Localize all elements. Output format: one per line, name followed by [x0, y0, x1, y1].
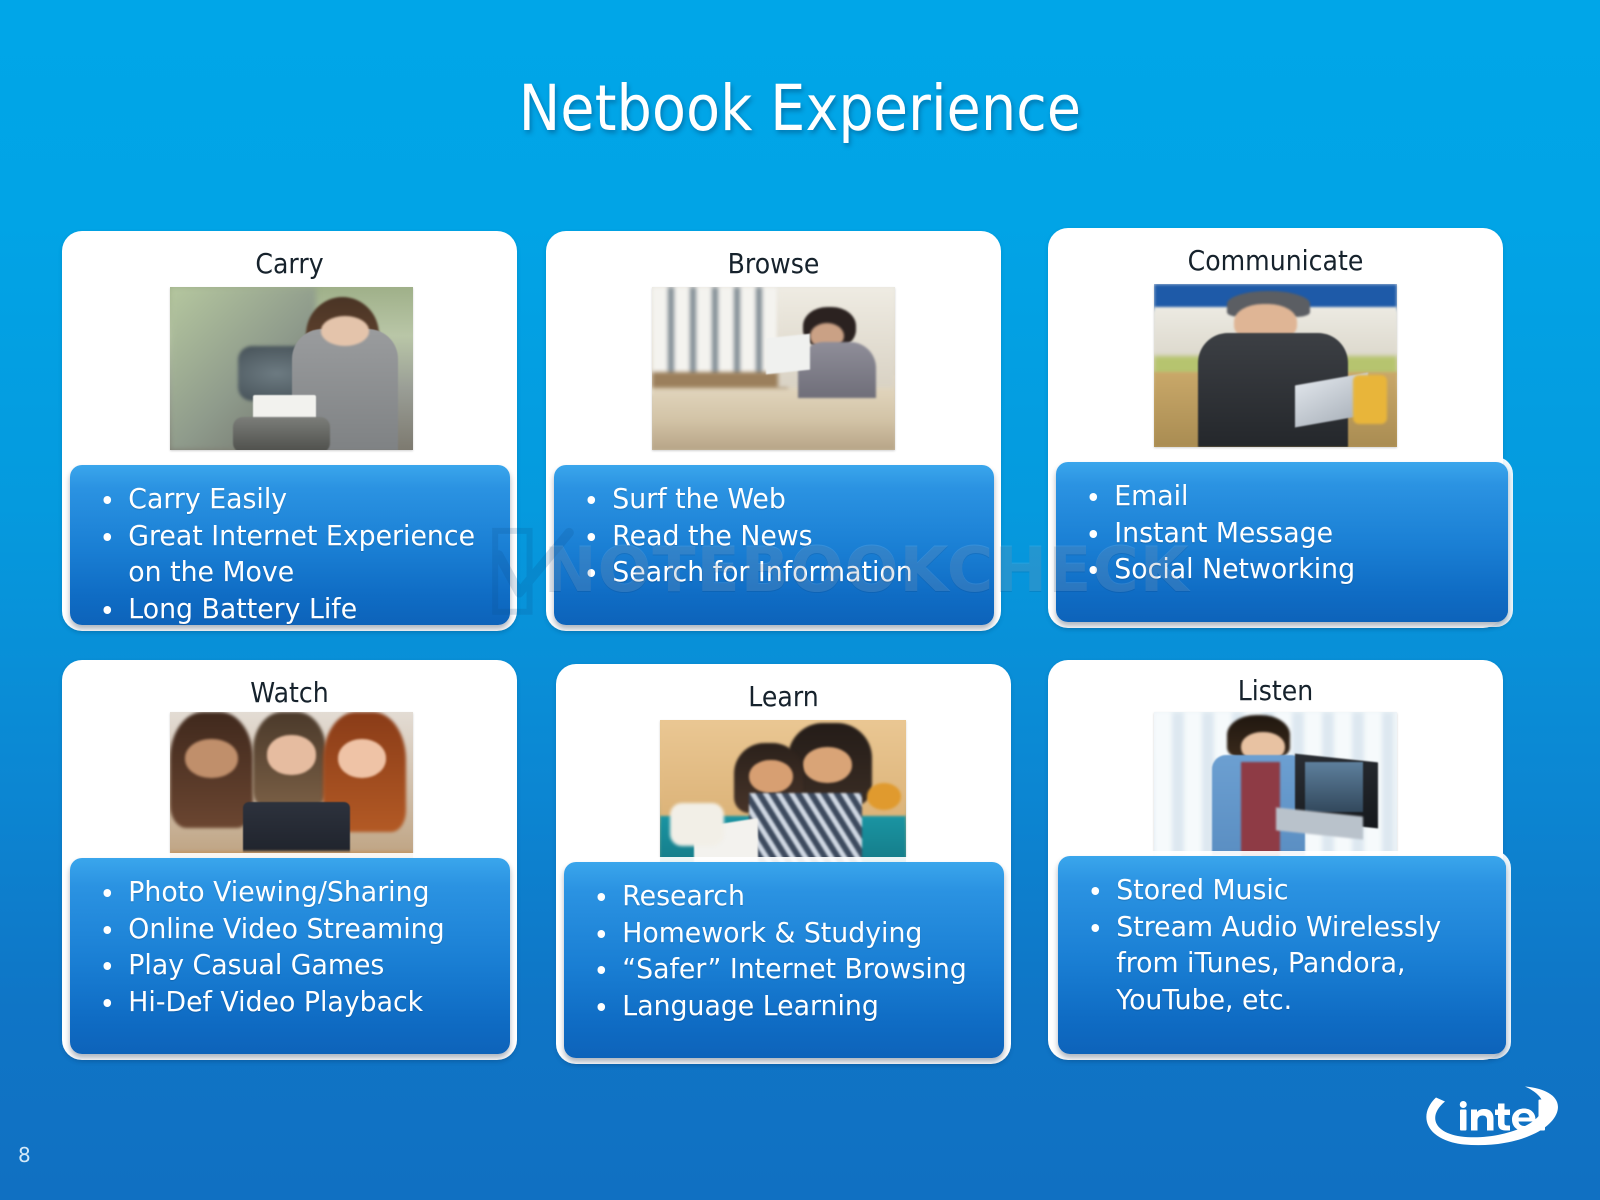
intel-logo: R	[1418, 1075, 1568, 1159]
card-title: Browse	[569, 247, 979, 280]
card-title: Watch	[85, 676, 495, 709]
bullet-item: “Safer” Internet Browsing	[586, 951, 976, 988]
bullet-item: Great Internet Experience on the Move	[92, 518, 482, 591]
feature-card-listen[interactable]: Listen Stored Music Stream Audio Wireles…	[1048, 660, 1503, 1060]
bullet-item: Carry Easily	[92, 481, 482, 518]
card-title: Learn	[579, 680, 989, 713]
card-title: Listen	[1071, 674, 1481, 707]
bullet-item: Instant Message	[1078, 515, 1479, 552]
feature-card-learn[interactable]: Learn Research Homework & Studying “Safe…	[556, 664, 1011, 1064]
feature-card-watch[interactable]: Watch Photo Viewing/Sharing Online Video…	[62, 660, 517, 1060]
card-photo	[170, 287, 413, 450]
bullet-item: Read the News	[576, 518, 966, 555]
bullet-list: Photo Viewing/Sharing Online Video Strea…	[92, 874, 500, 1020]
bullet-item: Email	[1078, 478, 1479, 515]
bullet-item: Language Learning	[586, 988, 976, 1025]
bullet-item: Hi-Def Video Playback	[92, 984, 482, 1021]
bullet-list: Carry Easily Great Internet Experience o…	[92, 481, 500, 627]
bullet-list: Stored Music Stream Audio Wirelessly fro…	[1080, 872, 1496, 1018]
bullet-item: Homework & Studying	[586, 915, 976, 952]
bullet-item: Play Casual Games	[92, 947, 482, 984]
feature-card-carry[interactable]: Carry Carry Easily Great Internet Experi…	[62, 231, 517, 631]
intel-logo-icon: R	[1418, 1075, 1568, 1159]
card-bullet-box: Photo Viewing/Sharing Online Video Strea…	[70, 858, 510, 1054]
feature-card-communicate[interactable]: Communicate Email Instant Message Social…	[1048, 228, 1503, 628]
card-photo	[170, 712, 413, 878]
bullet-list: Email Instant Message Social Networking	[1078, 478, 1498, 588]
svg-text:R: R	[1550, 1105, 1553, 1111]
bullet-item: Search for Information	[576, 554, 966, 591]
feature-card-grid: Carry Carry Easily Great Internet Experi…	[0, 0, 1600, 1200]
bullet-list: Research Homework & Studying “Safer” Int…	[586, 878, 994, 1024]
card-photo	[652, 287, 895, 450]
card-photo	[1154, 284, 1397, 447]
bullet-item: Long Battery Life	[92, 591, 482, 628]
bullet-item: Photo Viewing/Sharing	[92, 874, 482, 911]
card-title: Carry	[85, 247, 495, 280]
card-bullet-box: Carry Easily Great Internet Experience o…	[70, 465, 510, 625]
card-bullet-box: Research Homework & Studying “Safer” Int…	[564, 862, 1004, 1058]
bullet-item: Social Networking	[1078, 551, 1479, 588]
card-bullet-box: Surf the Web Read the News Search for In…	[554, 465, 994, 625]
bullet-list: Surf the Web Read the News Search for In…	[576, 481, 984, 591]
bullet-item: Stream Audio Wirelessly from iTunes, Pan…	[1080, 909, 1477, 1019]
feature-card-browse[interactable]: Browse Surf the Web Read the News Search…	[546, 231, 1001, 631]
card-photo	[1154, 712, 1397, 878]
card-bullet-box: Stored Music Stream Audio Wirelessly fro…	[1058, 856, 1506, 1054]
bullet-item: Online Video Streaming	[92, 911, 482, 948]
page-number: 8	[18, 1143, 31, 1167]
bullet-item: Stored Music	[1080, 872, 1477, 909]
card-bullet-box: Email Instant Message Social Networking	[1056, 462, 1508, 622]
bullet-item: Surf the Web	[576, 481, 966, 518]
slide-root: Netbook Experience Carry Carry Easily Gr…	[0, 0, 1600, 1200]
card-title: Communicate	[1071, 244, 1481, 277]
bullet-item: Research	[586, 878, 976, 915]
